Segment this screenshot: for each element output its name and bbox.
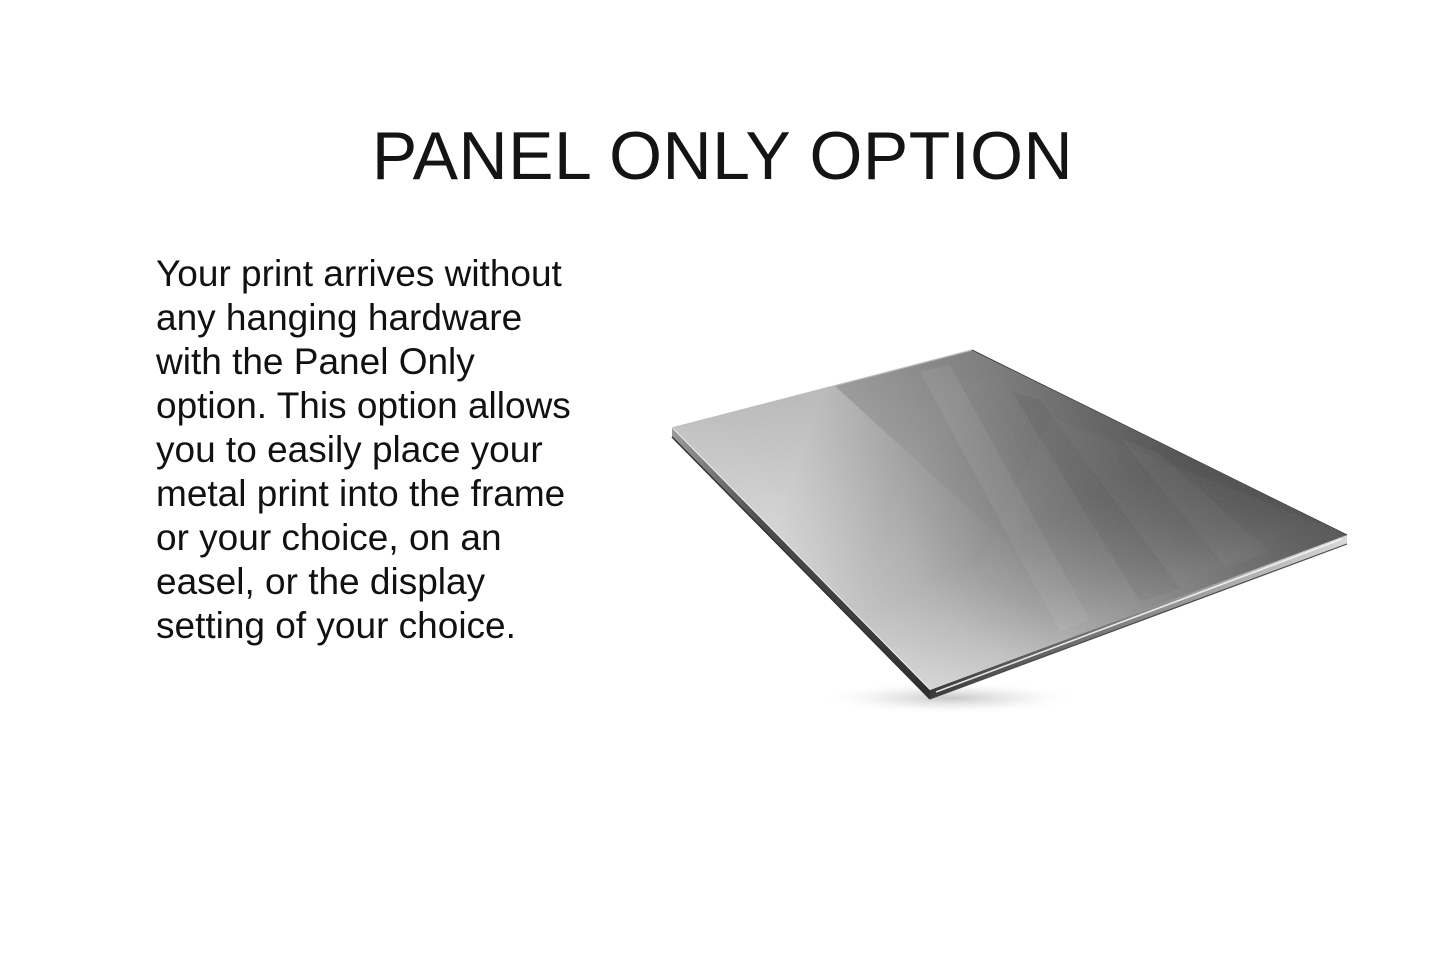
metal-panel-figure xyxy=(620,320,1400,740)
metal-panel-illustration xyxy=(620,320,1400,740)
body-paragraph: Your print arrives without any hanging h… xyxy=(156,252,576,648)
page-title: PANEL ONLY OPTION xyxy=(0,122,1445,190)
slide: PANEL ONLY OPTION Your print arrives wit… xyxy=(0,0,1445,963)
